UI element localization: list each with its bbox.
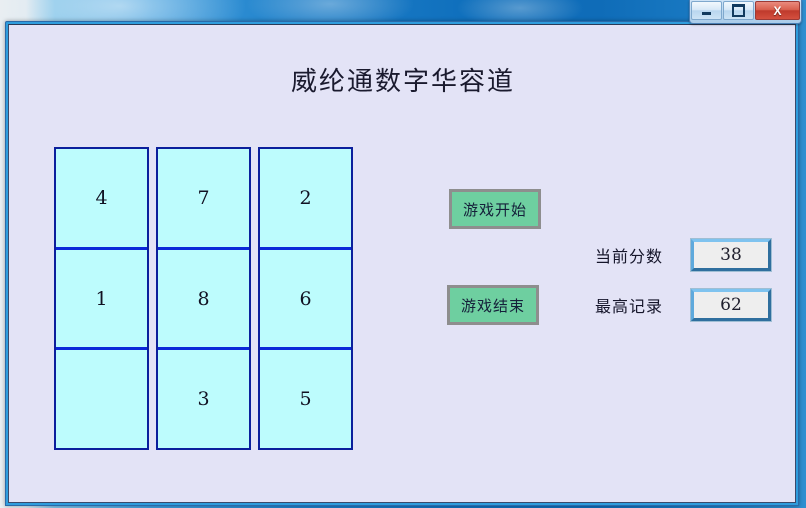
puzzle-tile[interactable]: 4 — [56, 149, 147, 247]
puzzle-tile[interactable]: 6 — [260, 247, 351, 348]
best-score-value: 62 — [691, 289, 771, 321]
window-client-area: 威纶通数字华容道 4 1 7 8 3 2 6 5 游戏开始 游戏结束 当前分数 … — [8, 24, 796, 503]
best-score-label: 最高记录 — [595, 293, 681, 317]
puzzle-tile[interactable]: 2 — [260, 149, 351, 247]
best-score-row: 最高记录 62 — [595, 289, 771, 321]
current-score-label: 当前分数 — [595, 243, 681, 267]
current-score-value: 38 — [691, 239, 771, 271]
puzzle-tile[interactable]: 7 — [158, 149, 249, 247]
puzzle-tile[interactable]: 3 — [158, 347, 249, 448]
puzzle-column-1: 4 1 — [54, 147, 149, 450]
puzzle-tile[interactable]: 5 — [260, 347, 351, 448]
window-caption-buttons: X — [689, 0, 802, 24]
puzzle-tile[interactable]: 1 — [56, 247, 147, 348]
start-game-button[interactable]: 游戏开始 — [449, 189, 541, 229]
page-title: 威纶通数字华容道 — [9, 61, 796, 98]
maximize-button[interactable] — [723, 1, 754, 20]
puzzle-column-2: 7 8 3 — [156, 147, 251, 450]
application-window: 威纶通数字华容道 4 1 7 8 3 2 6 5 游戏开始 游戏结束 当前分数 … — [5, 21, 799, 506]
close-button[interactable]: X — [755, 1, 800, 20]
maximize-icon — [732, 4, 745, 17]
minimize-button[interactable] — [691, 1, 722, 20]
minimize-icon — [702, 12, 711, 15]
puzzle-tile[interactable]: 8 — [158, 247, 249, 348]
puzzle-grid[interactable]: 4 1 7 8 3 2 6 5 — [54, 147, 354, 450]
close-icon: X — [773, 5, 781, 17]
puzzle-tile-empty[interactable] — [56, 347, 147, 448]
current-score-row: 当前分数 38 — [595, 239, 771, 271]
end-game-button[interactable]: 游戏结束 — [447, 285, 539, 325]
puzzle-column-3: 2 6 5 — [258, 147, 353, 450]
